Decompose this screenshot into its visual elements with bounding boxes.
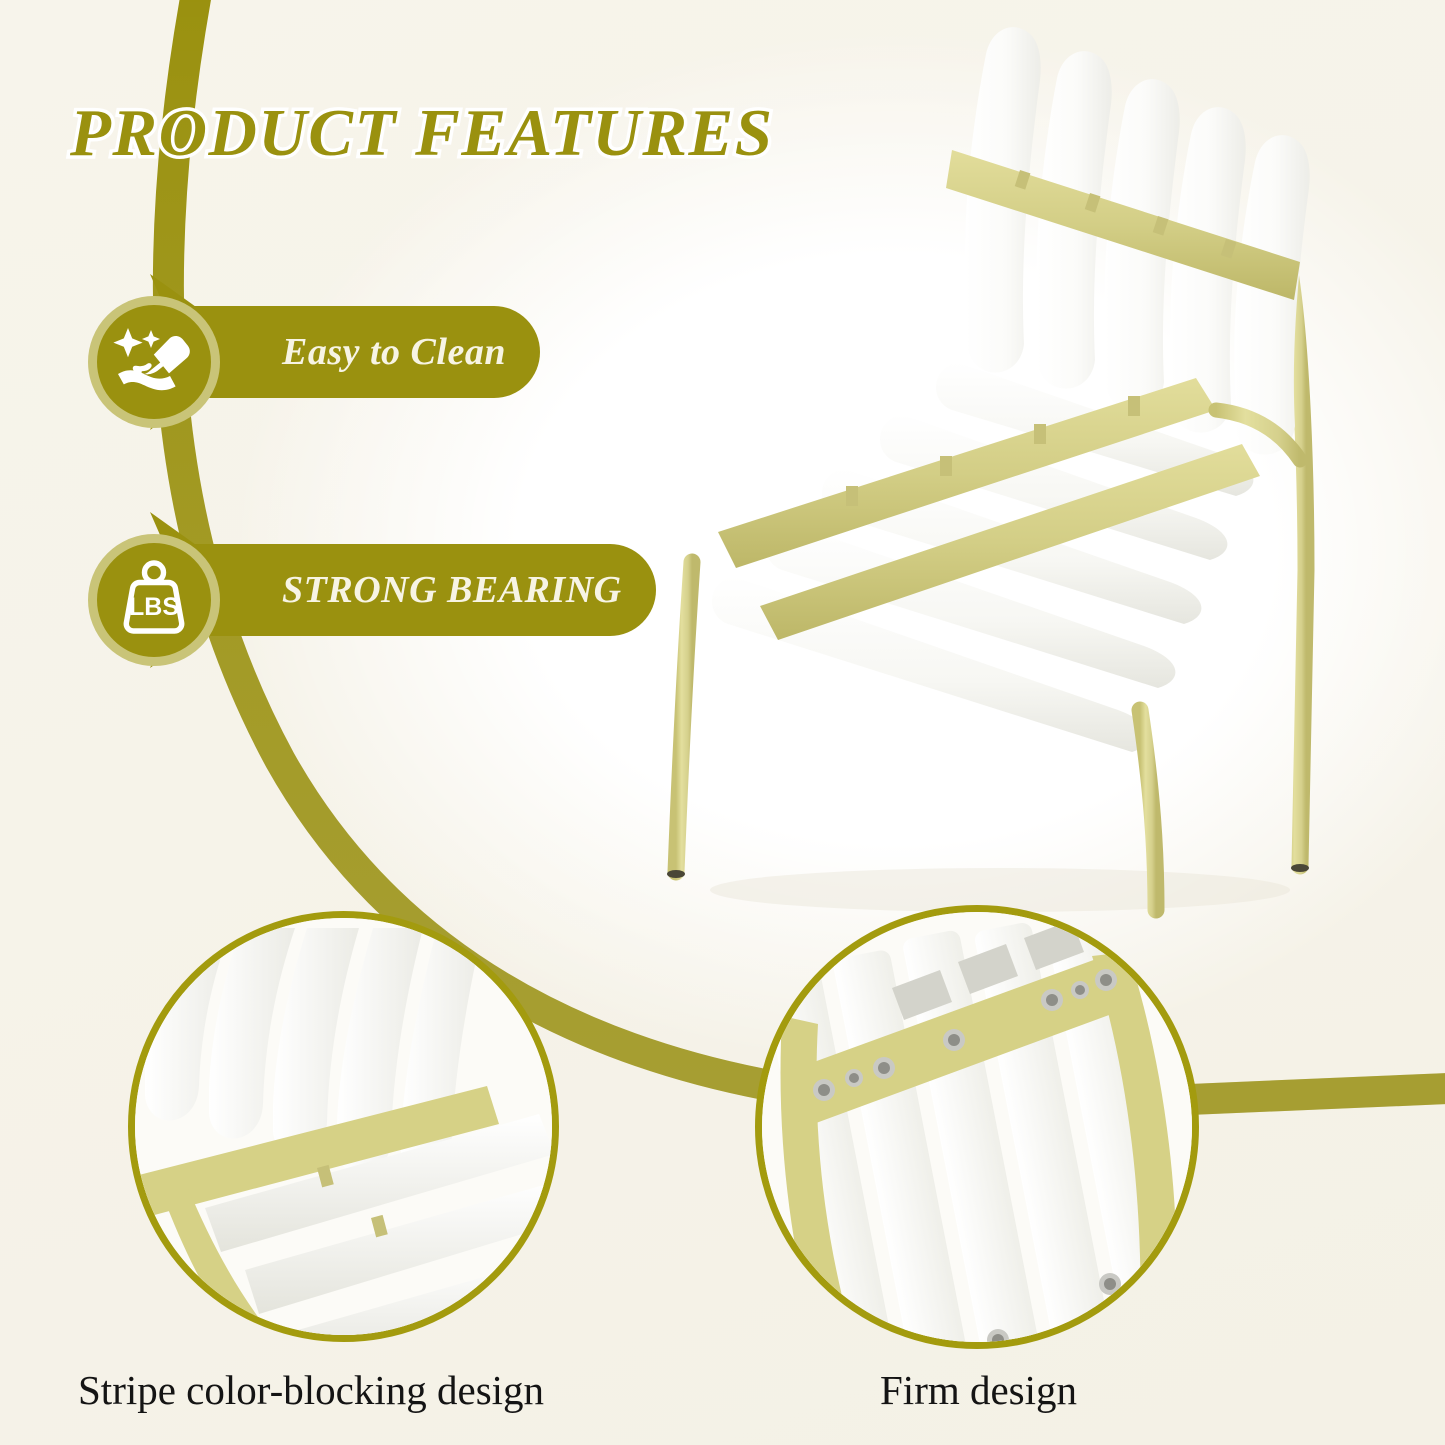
sponge-sparkle-glyph — [106, 314, 202, 410]
detail-left-image — [135, 918, 559, 1342]
feature-label: Easy to Clean — [282, 330, 506, 374]
detail-caption-left: Stripe color-blocking design — [78, 1366, 544, 1414]
weight-lbs-icon: LBS — [88, 534, 220, 666]
lbs-label: LBS — [129, 593, 179, 621]
feature-label: STRONG BEARING — [282, 568, 622, 612]
sponge-sparkle-icon — [88, 296, 220, 428]
chair-foot-cap — [1291, 864, 1309, 872]
detail-top-rail — [141, 928, 195, 962]
detail-caption-right: Firm design — [880, 1366, 1077, 1414]
weight-lbs-glyph: LBS — [106, 552, 202, 648]
detail-right-image — [762, 912, 1199, 1349]
detail-circle-firm-design — [755, 905, 1199, 1349]
chair-leg-front-left — [676, 562, 692, 872]
chair-foot-cap — [667, 870, 685, 878]
badge-pill: STRONG BEARING — [162, 544, 656, 636]
detail-circle-stripe-design — [128, 911, 559, 1342]
page-title: PRODUCT FEATURES — [70, 95, 773, 172]
infographic-canvas: PRODUCT FEATURES Easy to Clean STRONG BE… — [0, 0, 1445, 1445]
